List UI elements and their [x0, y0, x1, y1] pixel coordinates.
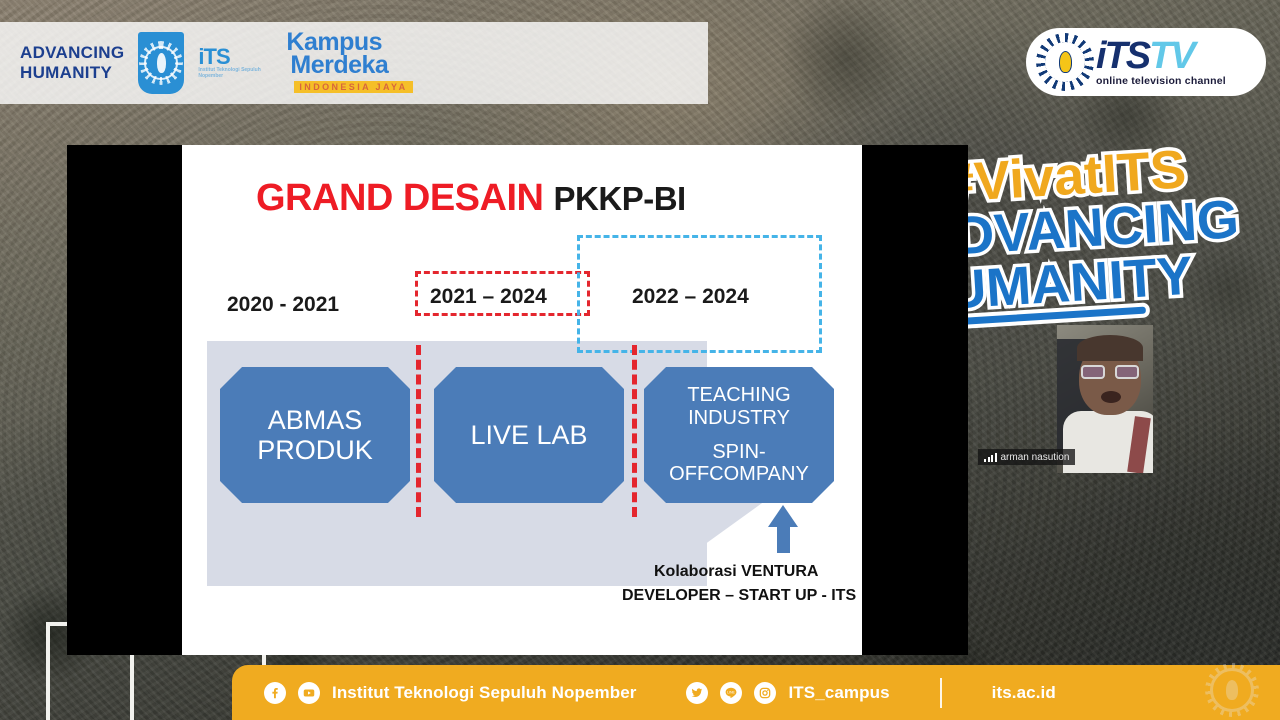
stage-1-line-2: PRODUK	[257, 435, 373, 465]
participant-name: arman nasution	[1001, 452, 1070, 463]
its-tv-its-word: iTS	[1096, 37, 1149, 75]
footer-bar: Institut Teknologi Sepuluh Nopember LINE…	[232, 665, 1280, 720]
twitter-icon[interactable]	[686, 682, 708, 704]
its-logo-subtitle: Institut Teknologi Sepuluh Nopember	[198, 67, 262, 80]
its-gear-icon	[144, 46, 178, 80]
stage-2-line-1: LIVE LAB	[470, 420, 587, 450]
broadcast-stage: ADVANCING HUMANITY iTS Institut Teknolog…	[0, 0, 1280, 720]
its-tv-channel-logo: iTS TV online television channel	[1026, 28, 1266, 96]
advancing-humanity-text: ADVANCING HUMANITY	[20, 43, 124, 83]
phase-3-label: 2022 – 2024	[632, 285, 749, 309]
kampus-merdeka-logo: Kampus Merdeka INDONESIA JAYA	[286, 31, 412, 95]
facebook-icon[interactable]	[264, 682, 286, 704]
signal-bars-icon	[984, 453, 997, 462]
slide-title: GRAND DESAIN PKKP-BI	[256, 177, 686, 220]
stage-1-line-1: ABMAS	[257, 405, 373, 435]
caption-line-2: DEVELOPER – START UP - ITS	[622, 587, 856, 605]
kampus-merdeka-tagline: INDONESIA JAYA	[294, 81, 412, 93]
collaboration-up-arrow-icon	[768, 505, 798, 553]
top-banner: ADVANCING HUMANITY iTS Institut Teknolog…	[0, 22, 708, 104]
kampus-merdeka-line-2: Merdeka	[290, 54, 412, 77]
phase-divider-1	[416, 345, 421, 517]
caption-line-1: Kolaborasi VENTURA	[654, 563, 818, 581]
stage-3-line-1: TEACHING INDUSTRY	[650, 384, 828, 429]
phase-divider-2	[632, 345, 637, 517]
footer-social-handle: ITS_campus	[788, 683, 889, 703]
wall-graffiti: #VivatITS ADVANCING HUMANITY	[962, 148, 1280, 320]
its-gear-watermark-icon	[1210, 668, 1254, 712]
stage-box-teaching-industry: TEACHING INDUSTRY SPIN-OFFCOMPANY	[644, 367, 834, 503]
its-shield-logo-icon	[138, 32, 184, 94]
slide-title-highlight: GRAND DESAIN	[256, 177, 543, 219]
phase-2-label: 2021 – 2024	[430, 285, 547, 309]
instagram-icon[interactable]	[754, 682, 776, 704]
its-logo-wordmark: iTS	[198, 47, 262, 67]
its-tv-gear-icon	[1042, 39, 1088, 85]
stage-3-line-2: SPIN-OFFCOMPANY	[650, 441, 828, 486]
youtube-icon[interactable]	[298, 682, 320, 704]
its-tv-tv-word: TV	[1149, 37, 1194, 75]
screen-share-area[interactable]: GRAND DESAIN PKKP-BI 2020 - 2021 2021 – …	[67, 145, 968, 655]
presentation-slide: GRAND DESAIN PKKP-BI 2020 - 2021 2021 – …	[182, 145, 862, 655]
svg-text:LINE: LINE	[728, 690, 736, 694]
footer-website: its.ac.id	[992, 683, 1056, 703]
advancing-line-1: ADVANCING	[20, 43, 124, 63]
participant-name-label: arman nasution	[978, 449, 1075, 465]
advancing-line-2: HUMANITY	[20, 63, 124, 83]
slide-title-rest: PKKP-BI	[554, 180, 686, 217]
line-icon[interactable]: LINE	[720, 682, 742, 704]
footer-divider	[940, 678, 942, 708]
stage-box-abmas-produk: ABMAS PRODUK	[220, 367, 410, 503]
its-tv-tagline: online television channel	[1096, 76, 1226, 87]
stage-box-live-lab: LIVE LAB	[434, 367, 624, 503]
glasses-icon	[1081, 365, 1139, 379]
phase-1-label: 2020 - 2021	[227, 293, 339, 317]
footer-org-name: Institut Teknologi Sepuluh Nopember	[332, 683, 636, 703]
